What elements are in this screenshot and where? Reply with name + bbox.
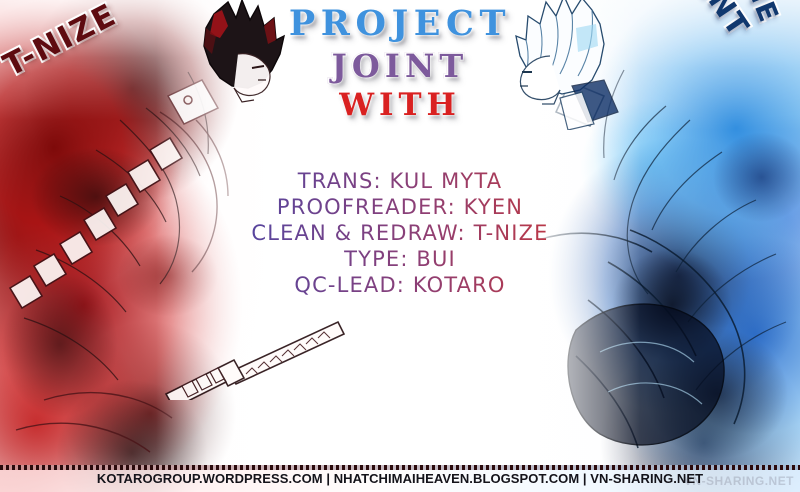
credit-line-proofreader: PROOFREADER: KYEN [0, 194, 800, 220]
katana-sword [160, 316, 350, 400]
title-line-project: PROJECT [0, 3, 800, 44]
credit-line-clean-redraw: CLEAN & REDRAW: T-NIZE [0, 220, 800, 246]
left-character-head [176, 0, 296, 116]
right-character-head [498, 0, 628, 130]
group-tag-silent: SILENT [658, 0, 756, 43]
group-tag-the: THE [731, 0, 784, 28]
title-line-joint: JOINT [0, 47, 800, 85]
footer-perforation [0, 465, 800, 470]
credit-line-qc-lead: QC-LEAD: KOTARO [0, 272, 800, 298]
title-block: PROJECT JOINT WITH [0, 0, 800, 140]
group-tag-t-nize: T-NIZE [0, 0, 123, 84]
credit-line-type: TYPE: BUI [0, 246, 800, 272]
credits-list: TRANS: KUL MYTA PROOFREADER: KYEN CLEAN … [0, 168, 800, 298]
scanlation-credits-page: PROJECT JOINT WITH T-NIZE THE SILENT TRA… [0, 0, 800, 492]
credit-line-trans: TRANS: KUL MYTA [0, 168, 800, 194]
footer-links: KOTAROGROUP.WORDPRESS.COM | NHATCHIMAIHE… [0, 471, 800, 486]
footer-bar: VN-SHARING.NET KOTAROGROUP.WORDPRESS.COM… [0, 465, 800, 492]
title-line-with: WITH [0, 87, 800, 123]
